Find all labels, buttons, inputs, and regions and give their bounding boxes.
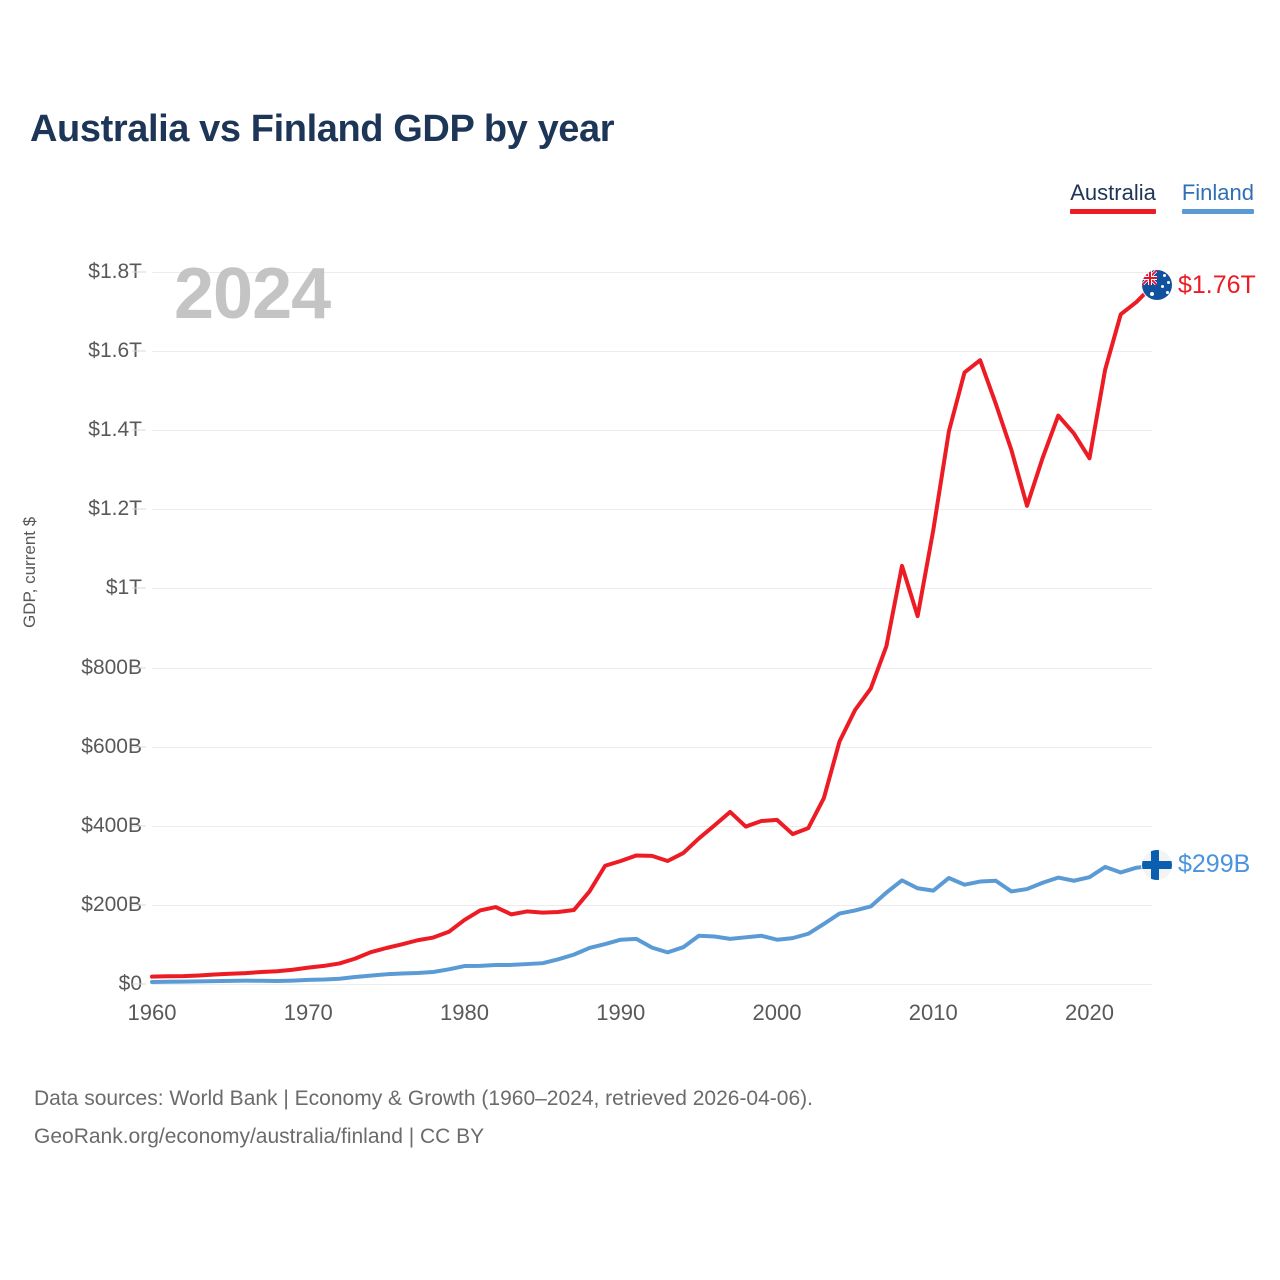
y-axis-tick [132, 351, 146, 352]
y-axis-tick [132, 825, 146, 826]
footer-line-attribution: GeoRank.org/economy/australia/finland | … [34, 1118, 813, 1156]
y-axis-tick [132, 588, 146, 589]
series-line-finland [152, 866, 1152, 982]
gridline [152, 984, 1152, 985]
legend-item-australia[interactable]: Australia [1070, 180, 1156, 214]
x-axis-tick-label: 2020 [1065, 1000, 1114, 1026]
footer-line-sources: Data sources: World Bank | Economy & Gro… [34, 1080, 813, 1118]
footer: Data sources: World Bank | Economy & Gro… [34, 1080, 813, 1156]
y-axis-tick [132, 984, 146, 985]
legend-label-finland: Finland [1182, 180, 1254, 206]
australia-flag-icon [1142, 270, 1172, 300]
plot-area: 2024 [152, 272, 1152, 984]
finland-end-value: $299B [1178, 850, 1250, 879]
finland-flag-icon [1142, 850, 1172, 880]
y-axis-tick [132, 509, 146, 510]
x-axis-tick-label: 2000 [753, 1000, 802, 1026]
y-axis-tick [132, 667, 146, 668]
y-axis-tick [132, 430, 146, 431]
series-lines [152, 272, 1152, 984]
series-line-australia [152, 286, 1152, 976]
australia-endpoint[interactable]: $1.76T [1142, 270, 1256, 300]
page-title: Australia vs Finland GDP by year [30, 108, 614, 151]
australia-end-value: $1.76T [1178, 271, 1256, 300]
x-axis-labels: 1960197019801990200020102020 [152, 1000, 1152, 1040]
finland-endpoint[interactable]: $299B [1142, 850, 1250, 880]
legend-color-swatch-australia [1070, 209, 1156, 214]
x-axis-tick-label: 1960 [128, 1000, 177, 1026]
y-axis-tick [132, 904, 146, 905]
y-axis-tick [132, 746, 146, 747]
x-axis-tick-label: 1970 [284, 1000, 333, 1026]
x-axis-tick-label: 2010 [909, 1000, 958, 1026]
legend-label-australia: Australia [1070, 180, 1156, 206]
legend-item-finland[interactable]: Finland [1182, 180, 1254, 214]
x-axis-tick-label: 1980 [440, 1000, 489, 1026]
y-axis-tick [132, 272, 146, 273]
chart-page: Australia vs Finland GDP by year Austral… [0, 0, 1280, 1280]
x-axis-tick-label: 1990 [596, 1000, 645, 1026]
y-axis-labels: $0$200B$400B$600B$800B$1T$1.2T$1.4T$1.6T… [0, 272, 146, 984]
chart-legend: Australia Finland [1070, 180, 1254, 214]
legend-color-swatch-finland [1182, 209, 1254, 214]
